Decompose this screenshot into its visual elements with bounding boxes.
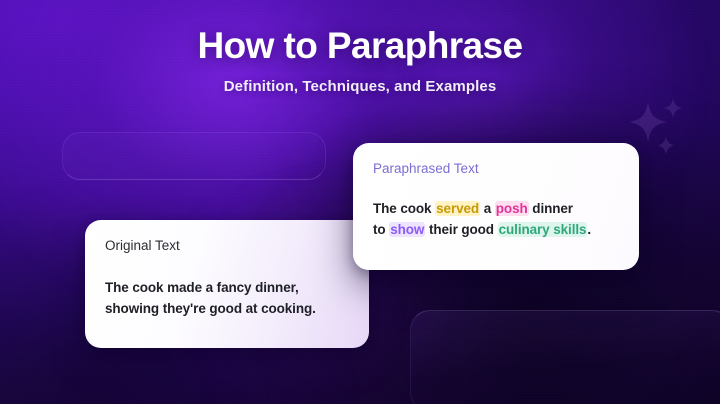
paraphrased-text-card: Paraphrased Text The cook served a posh …: [353, 143, 639, 270]
paraphrased-line-2-segment-3: .: [587, 222, 591, 237]
page-header: How to Paraphrase Definition, Techniques…: [0, 24, 720, 95]
original-text-body: The cook made a fancy dinner, showing th…: [105, 278, 349, 319]
paraphrased-line-2-segment-2: their good: [425, 222, 497, 237]
poster-canvas: How to Paraphrase Definition, Techniques…: [0, 0, 720, 404]
highlight-served: served: [435, 201, 480, 216]
highlight-show: show: [389, 222, 425, 237]
page-title: How to Paraphrase: [0, 24, 720, 68]
paraphrased-line-2-segment-1: to: [373, 222, 389, 237]
original-text-line-1: The cook made a fancy dinner,: [105, 280, 299, 295]
paraphrased-line-1-segment-3: dinner: [529, 201, 573, 216]
paraphrased-text-body: The cook served a posh dinnerto show the…: [373, 199, 621, 240]
paraphrased-line-1-segment-1: The cook: [373, 201, 435, 216]
highlight-culinary-skills: culinary skills: [498, 222, 588, 237]
page-subtitle: Definition, Techniques, and Examples: [0, 78, 720, 95]
paraphrased-line-1-segment-2: a: [480, 201, 495, 216]
original-text-card: Original Text The cook made a fancy dinn…: [85, 220, 369, 348]
highlight-posh: posh: [495, 201, 529, 216]
original-text-line-2: showing they're good at cooking.: [105, 301, 316, 316]
original-text-label: Original Text: [105, 238, 349, 254]
paraphrased-text-label: Paraphrased Text: [373, 161, 621, 177]
